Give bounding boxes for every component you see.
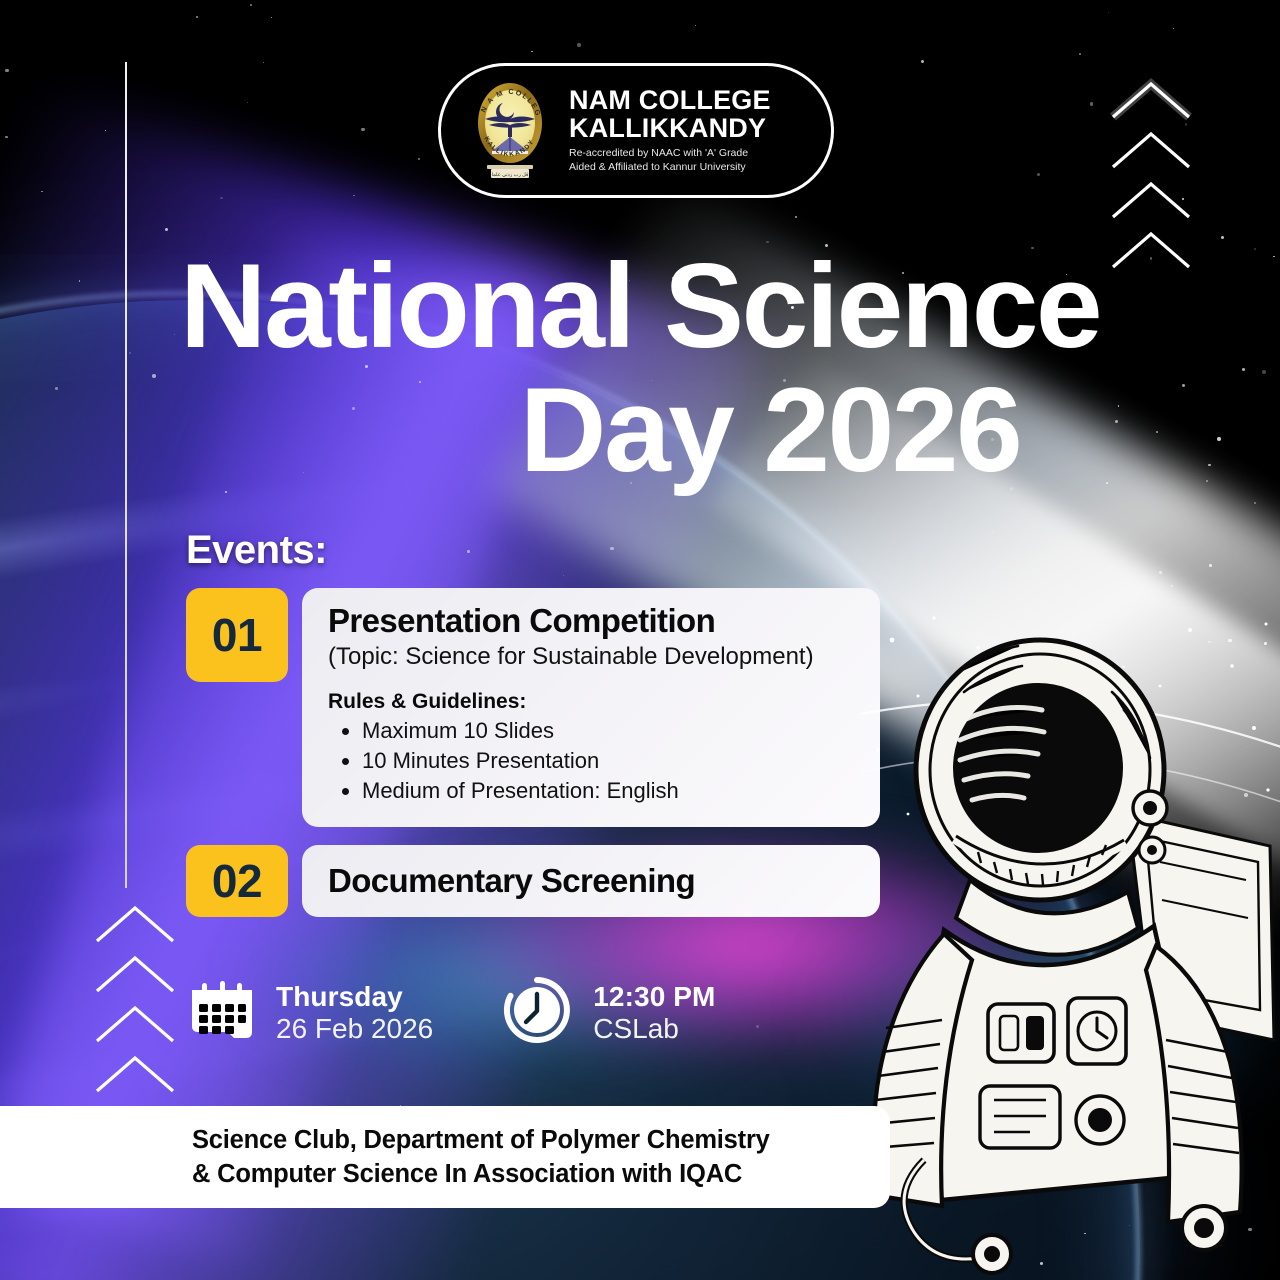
chevron-group-top-right (1108, 78, 1194, 272)
college-logo-pill: N A M COLLEGE KALLIKKANDY قل رب زدني علم… (438, 63, 834, 198)
event-time: 12:30 PM CSLab (499, 972, 715, 1053)
event-item-01: 01 Presentation Competition (Topic: Scie… (186, 588, 880, 827)
event-title: Presentation Competition (328, 604, 858, 639)
logo-line-2: KALLIKKANDY (569, 114, 771, 142)
date-day: Thursday (276, 981, 433, 1012)
event-number-badge: 02 (186, 845, 288, 917)
event-item-02: 02 Documentary Screening (186, 845, 880, 917)
poster-canvas: N A M COLLEGE KALLIKKANDY قل رب زدني علم… (0, 0, 1280, 1280)
date-text: Thursday 26 Feb 2026 (276, 981, 433, 1044)
organizer-line-2: & Computer Science In Association with I… (192, 1157, 890, 1191)
logo-accreditation-line-2: Aided & Affiliated to Kannur University (569, 161, 771, 175)
chevron-up-icon (92, 1052, 178, 1096)
date-value: 26 Feb 2026 (276, 1013, 433, 1044)
rules-list-item: Maximum 10 Slides (362, 716, 858, 746)
organizer-banner: Science Club, Department of Polymer Chem… (0, 1106, 890, 1208)
calendar-icon (186, 974, 258, 1051)
event-title: Documentary Screening (328, 864, 695, 899)
organizer-line-1: Science Club, Department of Polymer Chem… (192, 1123, 890, 1157)
event-meta-row: Thursday 26 Feb 2026 12:30 PM CSLab (186, 972, 715, 1053)
event-card: Presentation Competition (Topic: Science… (302, 588, 880, 827)
chevron-up-icon (92, 902, 178, 946)
vertical-divider-line (125, 62, 127, 888)
events-heading: Events: (186, 528, 327, 573)
nam-college-crest-icon: N A M COLLEGE KALLIKKANDY قل رب زدني علم… (467, 79, 553, 183)
time-text: 12:30 PM CSLab (593, 981, 715, 1044)
venue-value: CSLab (593, 1013, 715, 1044)
event-card: Documentary Screening (302, 845, 880, 917)
chevron-up-icon (92, 952, 178, 996)
svg-text:قل رب زدني علما: قل رب زدني علما (492, 172, 529, 178)
rules-list: Maximum 10 Slides 10 Minutes Presentatio… (328, 716, 858, 807)
logo-line-1: NAM COLLEGE (569, 86, 771, 114)
chevron-up-icon (1108, 128, 1194, 172)
chevron-up-icon (92, 1002, 178, 1046)
clock-icon (499, 972, 575, 1053)
logo-accreditation-line-1: Re-accredited by NAAC with 'A' Grade (569, 147, 771, 161)
rules-list-item: 10 Minutes Presentation (362, 746, 858, 776)
chevron-up-icon (1108, 78, 1194, 122)
rules-heading: Rules & Guidelines: (328, 690, 858, 714)
event-topic: (Topic: Science for Sustainable Developm… (328, 643, 858, 672)
chevron-up-icon (1108, 178, 1194, 222)
time-value: 12:30 PM (593, 981, 715, 1012)
chevron-up-icon (1108, 228, 1194, 272)
chevron-group-bottom-left (92, 902, 178, 1096)
logo-text-block: NAM COLLEGE KALLIKKANDY Re-accredited by… (569, 86, 771, 175)
rules-list-item: Medium of Presentation: English (362, 776, 858, 806)
event-number-badge: 01 (186, 588, 288, 682)
event-date: Thursday 26 Feb 2026 (186, 974, 433, 1051)
